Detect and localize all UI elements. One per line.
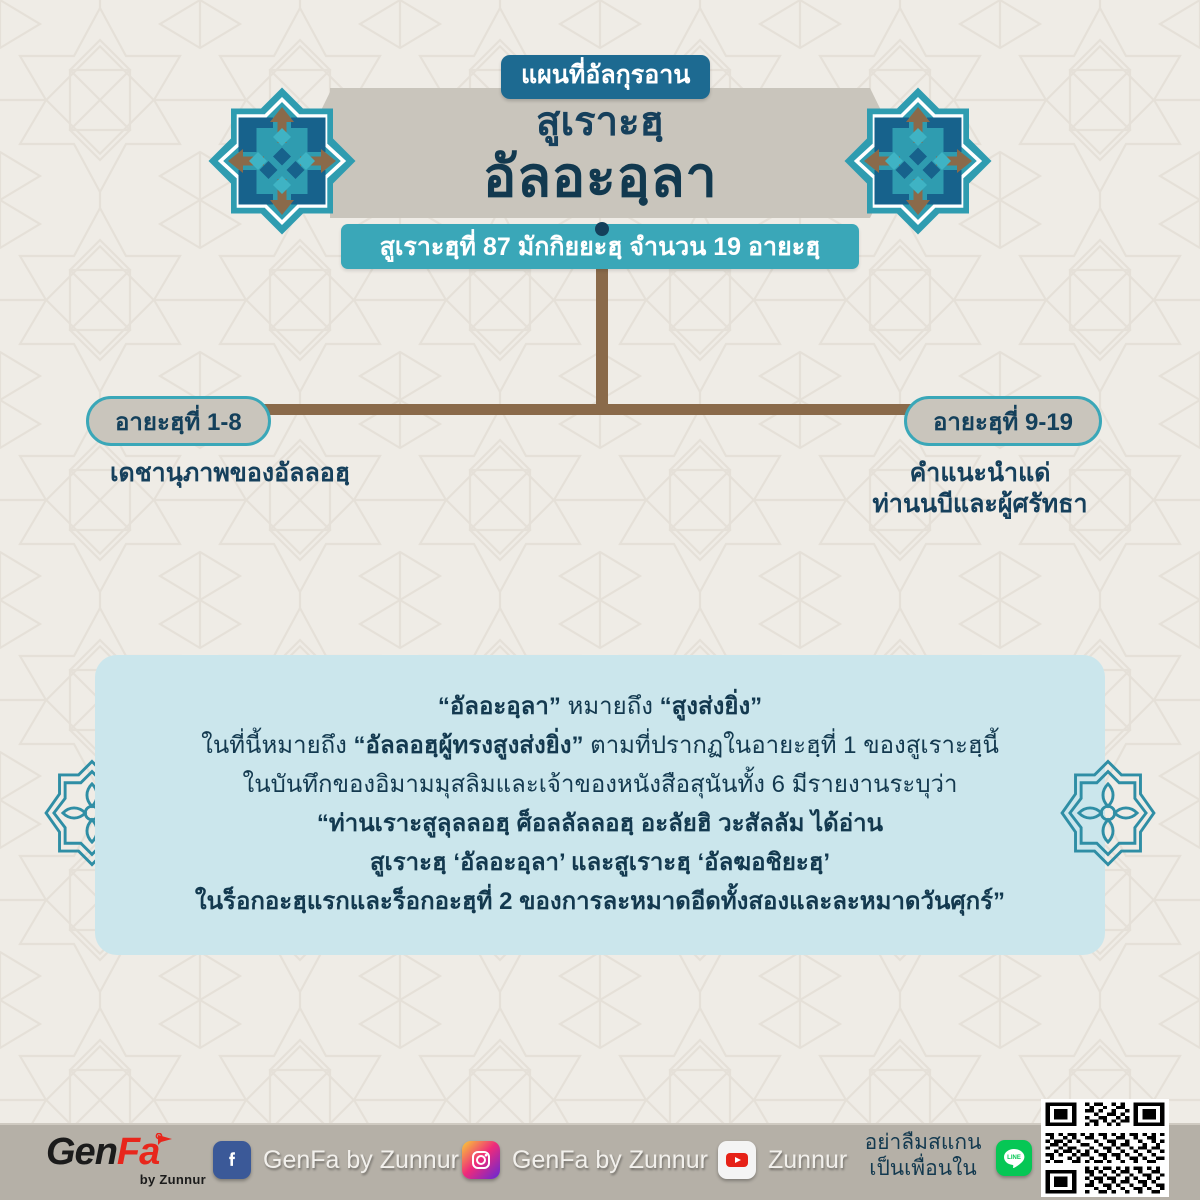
branch-caption-left: เดชานุภาพของอัลลอฮฺ bbox=[60, 458, 400, 489]
page-title: อัลอะอฺลา bbox=[330, 146, 870, 208]
genfa-logo: GenFa by Zunnur bbox=[46, 1133, 206, 1189]
trunk-horizontal-connector bbox=[185, 404, 1015, 415]
body-line-4: “ท่านเราะสูลุลลอฮฺ ศ็อลลัลลอฮฺ อะลัยฮิ ว… bbox=[95, 805, 1105, 844]
branch-caption-right: คำแนะนำแด่ ท่านนบีและผู้ศรัทธา bbox=[830, 458, 1130, 521]
social-link-youtube[interactable]: Zunnur bbox=[718, 1141, 847, 1179]
logo-text-gen: Gen bbox=[46, 1131, 117, 1173]
line-icon[interactable]: LINE bbox=[996, 1140, 1032, 1176]
header: แผนที่อัลกุรอาน สูเราะฮฺ อัลอะอฺลา สูเรา… bbox=[0, 0, 1200, 280]
branch-caption-right-line1: คำแนะนำแด่ bbox=[910, 459, 1051, 487]
social-link-facebook[interactable]: GenFa by Zunnur bbox=[213, 1141, 459, 1179]
map-badge: แผนที่อัลกุรอาน bbox=[501, 55, 710, 99]
logo-text-fa: Fa bbox=[117, 1131, 159, 1173]
facebook-label: GenFa by Zunnur bbox=[263, 1146, 459, 1175]
scan-line-2: เป็นเพื่อนใน bbox=[869, 1157, 976, 1180]
facebook-icon[interactable] bbox=[213, 1141, 251, 1179]
footer-divider bbox=[0, 1123, 1200, 1125]
flag-icon bbox=[155, 1133, 175, 1153]
body-line-6: ในร็อกอะฮฺแรกและร็อกอะฮฺที่ 2 ของการละหม… bbox=[95, 883, 1105, 922]
scan-line-1: อย่าลืมสแกน bbox=[865, 1131, 982, 1154]
body-line-3: ในบันทึกของอิมามมุสลิมและเจ้าของหนังสือส… bbox=[95, 766, 1105, 805]
branch-pill-left: อายะฮฺที่ 1-8 bbox=[86, 396, 271, 446]
logo-subtitle: by Zunnur bbox=[46, 1172, 206, 1187]
body-line-2: ในที่นี้หมายถึง “อัลลอฮฺผู้ทรงสูงส่งยิ่ง… bbox=[95, 727, 1105, 766]
social-link-instagram[interactable]: GenFa by Zunnur bbox=[462, 1141, 708, 1179]
instagram-icon[interactable] bbox=[462, 1141, 500, 1179]
body-line-1: “อัลอะอฺลา” หมายถึง “สูงส่งยิ่ง” bbox=[95, 688, 1105, 727]
svg-text:LINE: LINE bbox=[1007, 1155, 1021, 1161]
instagram-label: GenFa by Zunnur bbox=[512, 1146, 708, 1175]
explanation-text: “อัลอะอฺลา” หมายถึง “สูงส่งยิ่ง” ในที่นี… bbox=[95, 688, 1105, 921]
branch-pill-right: อายะฮฺที่ 9-19 bbox=[904, 396, 1102, 446]
trunk-node-dot bbox=[595, 222, 609, 236]
explanation-card: “อัลอะอฺลา” หมายถึง “สูงส่งยิ่ง” ในที่นี… bbox=[95, 655, 1105, 955]
youtube-icon[interactable] bbox=[718, 1141, 756, 1179]
star-medallion-right bbox=[1052, 757, 1164, 869]
body-line-5: สูเราะฮฺ ‘อัลอะอฺลา’ และสูเราะฮฺ ‘อัลฆอช… bbox=[95, 844, 1105, 883]
surah-word: สูเราะฮฺ bbox=[330, 100, 870, 144]
trunk-vertical-connector bbox=[596, 266, 608, 411]
youtube-label: Zunnur bbox=[768, 1146, 847, 1175]
branch-caption-right-line2: ท่านนบีและผู้ศรัทธา bbox=[872, 490, 1087, 518]
scan-instruction: อย่าลืมสแกน เป็นเพื่อนใน bbox=[858, 1130, 988, 1183]
infographic-page: แผนที่อัลกุรอาน สูเราะฮฺ อัลอะอฺลา สูเรา… bbox=[0, 0, 1200, 1200]
qr-code[interactable] bbox=[1041, 1099, 1169, 1197]
